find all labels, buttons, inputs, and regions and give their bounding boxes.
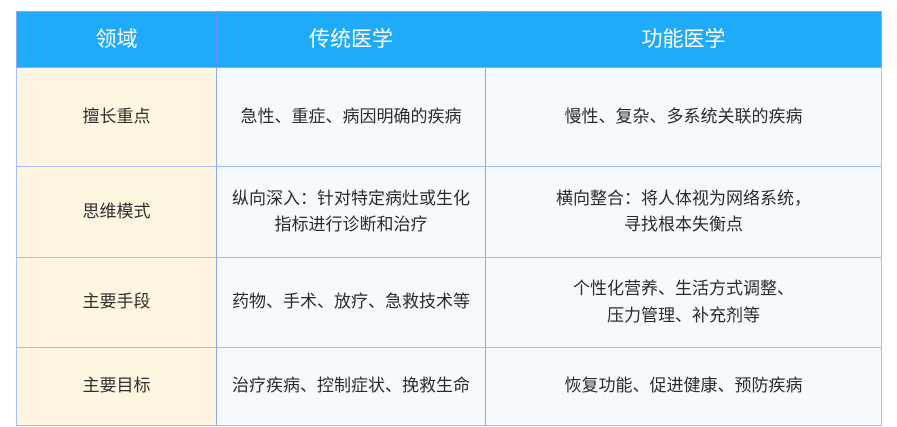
cell-text-line: 急性、重症、病因明确的疾病 (231, 104, 471, 130)
cell-text-line: 纵向深入：针对特定病灶或生化 (231, 186, 471, 212)
table-header: 领域 传统医学 功能医学 (17, 12, 882, 68)
cell-text-line: 药物、手术、放疗、急救技术等 (231, 289, 471, 315)
comparison-table-container: 领域 传统医学 功能医学 擅长重点 急性、重症、病因明确的疾病 慢性、复杂、多系… (16, 11, 881, 415)
cell-traditional: 治疗疾病、控制症状、挽救生命 (217, 348, 486, 426)
cell-traditional: 急性、重症、病因明确的疾病 (217, 68, 486, 167)
cell-domain: 主要目标 (17, 348, 217, 426)
cell-functional: 慢性、复杂、多系统关联的疾病 (486, 68, 882, 167)
cell-functional: 恢复功能、促进健康、预防疾病 (486, 348, 882, 426)
cell-text-line: 压力管理、补充剂等 (500, 303, 867, 329)
cell-text-line: 恢复功能、促进健康、预防疾病 (500, 373, 867, 399)
cell-traditional: 纵向深入：针对特定病灶或生化 指标进行诊断和治疗 (217, 167, 486, 258)
cell-text-line: 寻找根本失衡点 (500, 212, 867, 238)
column-header-functional: 功能医学 (486, 12, 882, 68)
table-row: 主要手段 药物、手术、放疗、急救技术等 个性化营养、生活方式调整、 压力管理、补… (17, 258, 882, 348)
cell-domain: 思维模式 (17, 167, 217, 258)
column-header-traditional: 传统医学 (217, 12, 486, 68)
table-row: 擅长重点 急性、重症、病因明确的疾病 慢性、复杂、多系统关联的疾病 (17, 68, 882, 167)
table-body: 擅长重点 急性、重症、病因明确的疾病 慢性、复杂、多系统关联的疾病 思维模式 纵… (17, 68, 882, 426)
cell-text-line: 指标进行诊断和治疗 (231, 212, 471, 238)
table-header-row: 领域 传统医学 功能医学 (17, 12, 882, 68)
cell-functional: 横向整合：将人体视为网络系统， 寻找根本失衡点 (486, 167, 882, 258)
cell-functional: 个性化营养、生活方式调整、 压力管理、补充剂等 (486, 258, 882, 348)
cell-domain: 擅长重点 (17, 68, 217, 167)
cell-text-line: 横向整合：将人体视为网络系统， (500, 186, 867, 212)
medicine-comparison-table: 领域 传统医学 功能医学 擅长重点 急性、重症、病因明确的疾病 慢性、复杂、多系… (16, 11, 882, 426)
column-header-domain: 领域 (17, 12, 217, 68)
cell-domain: 主要手段 (17, 258, 217, 348)
cell-text-line: 治疗疾病、控制症状、挽救生命 (231, 373, 471, 399)
table-row: 主要目标 治疗疾病、控制症状、挽救生命 恢复功能、促进健康、预防疾病 (17, 348, 882, 426)
cell-traditional: 药物、手术、放疗、急救技术等 (217, 258, 486, 348)
table-row: 思维模式 纵向深入：针对特定病灶或生化 指标进行诊断和治疗 横向整合：将人体视为… (17, 167, 882, 258)
cell-text-line: 个性化营养、生活方式调整、 (500, 276, 867, 302)
cell-text-line: 慢性、复杂、多系统关联的疾病 (500, 104, 867, 130)
